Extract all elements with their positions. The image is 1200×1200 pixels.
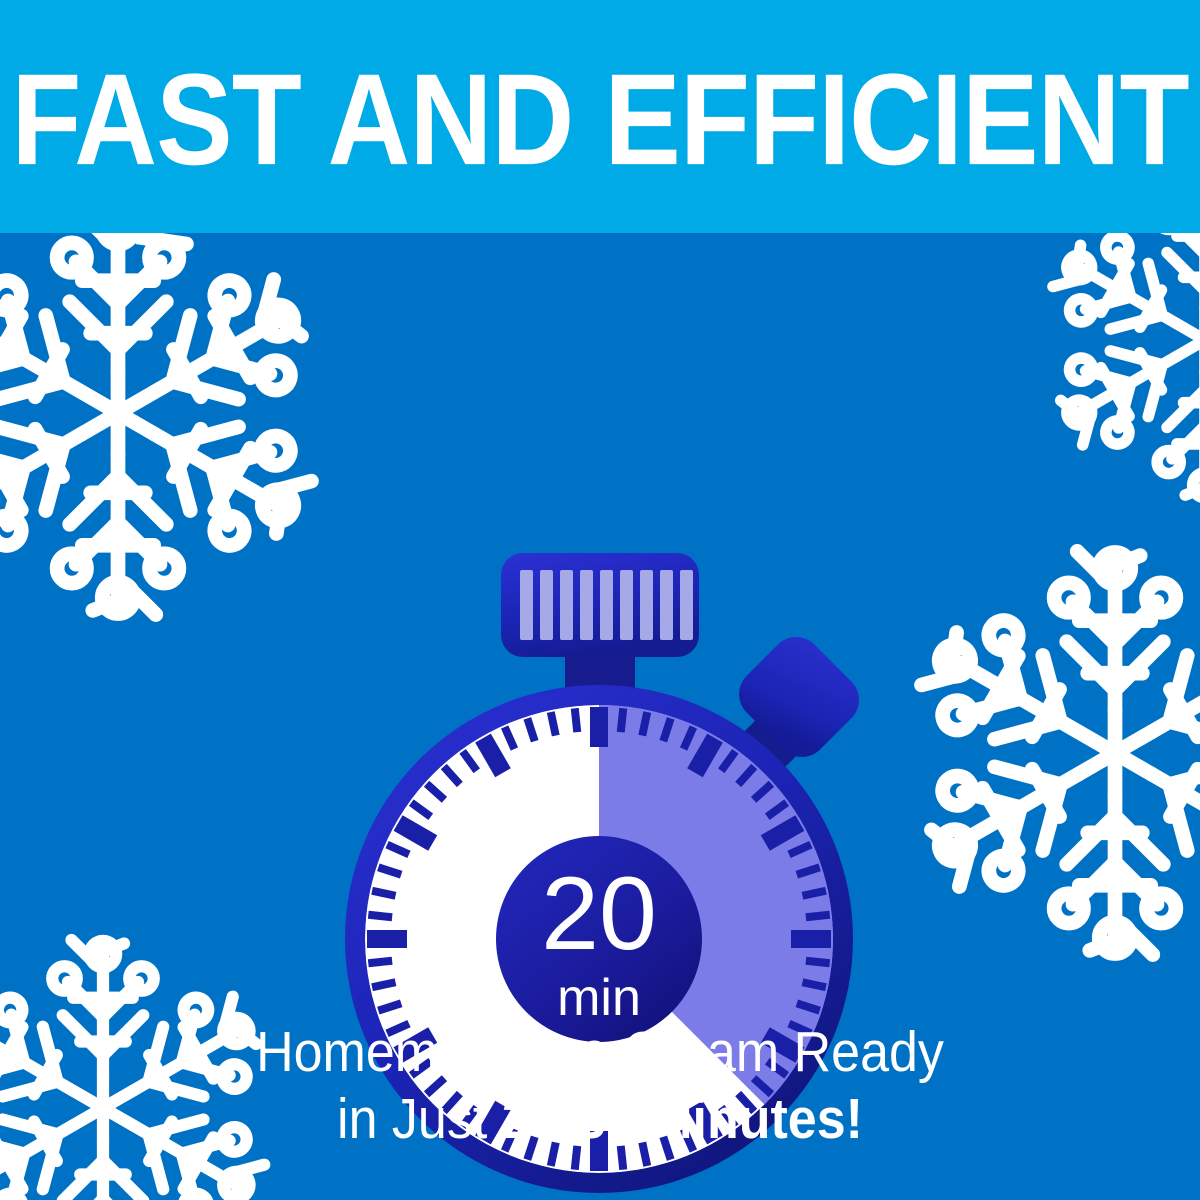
plunger-button [501, 553, 699, 657]
caption-line-2-prefix: in Just [337, 1088, 502, 1151]
promo-graphic: FAST AND EFFICIENT [0, 0, 1200, 1200]
snowflake-icon-right [905, 543, 1200, 963]
page-title: FAST AND EFFICIENT [6, 0, 1194, 233]
header-banner: FAST AND EFFICIENT [0, 0, 1200, 233]
caption-line-2-bold: 20-30 Minutes! [502, 1088, 863, 1151]
snowflake-icon-top-right [1040, 233, 1200, 505]
timer-value: 20 [541, 856, 657, 972]
caption: Homemade Ice Cream Ready in Just 20-30 M… [0, 1019, 1200, 1153]
caption-line-1: Homemade Ice Cream Ready [0, 1019, 1200, 1086]
caption-line-2: in Just 20-30 Minutes! [0, 1086, 1200, 1153]
snowflake-icon-top-left [0, 233, 328, 623]
